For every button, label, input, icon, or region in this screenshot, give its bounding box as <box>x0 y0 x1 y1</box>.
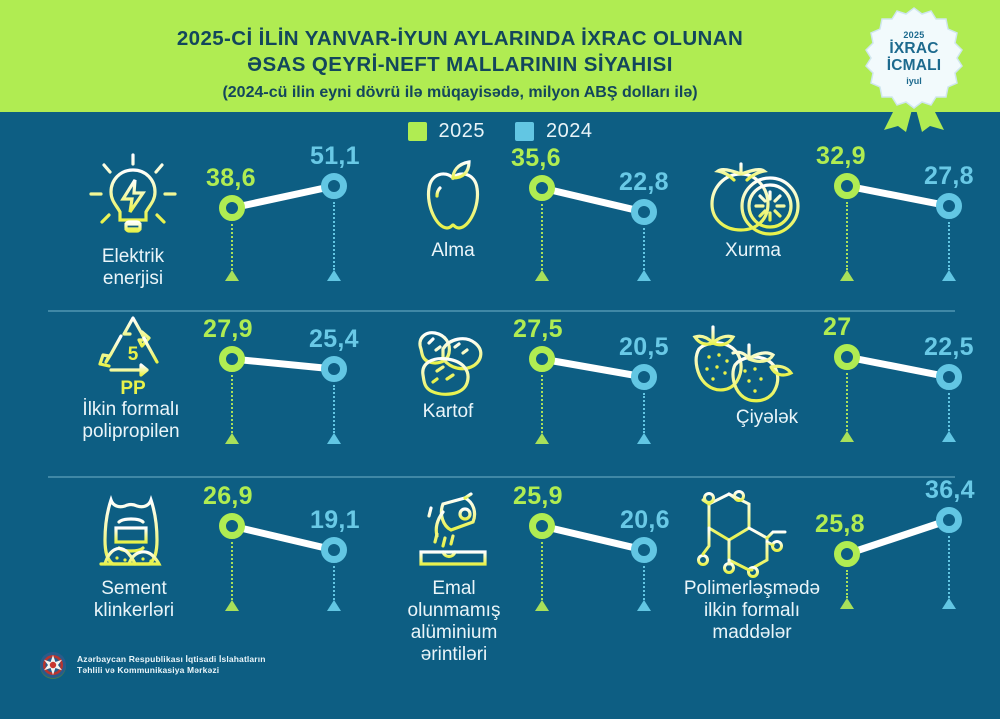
dropline-2025 <box>541 204 543 270</box>
item-emal-olunmamis-aluminium[interactable]: Emalolunmamışalüminiumərintiləri 25,9 20… <box>368 478 668 678</box>
badge-shape-icon <box>862 6 966 132</box>
arrow-2024 <box>637 433 651 444</box>
item-sement-klinkerleri[interactable]: Sementklinkerləri 26,9 19,1 <box>48 478 368 678</box>
item-chart: 32,9 27,8 <box>813 146 983 310</box>
marker-2025 <box>219 195 245 221</box>
item-ciyelek[interactable]: Çiyələk 27 22,5 <box>668 311 968 477</box>
footer-text-group: Azərbaycan Respublikası İqtisadi İslahat… <box>77 654 266 676</box>
item-chart: 38,6 51,1 <box>198 146 368 310</box>
value-2025: 25,9 <box>513 482 563 511</box>
molecule-icon <box>662 482 802 582</box>
arrow-2025 <box>225 433 239 444</box>
item-chart: 25,8 36,4 <box>813 478 983 678</box>
value-2025: 26,9 <box>203 482 253 511</box>
marker-2024 <box>321 173 347 199</box>
dropline-2024 <box>333 566 335 600</box>
arrow-2025 <box>840 598 854 609</box>
item-chart: 26,9 19,1 <box>198 478 368 678</box>
title-line-1: 2025-Cİ İLİN YANVAR-İYUN AYLARINDA İXRAC… <box>70 26 850 52</box>
arrow-2024 <box>637 270 651 281</box>
footer-line-2: Təhlili və Kommunikasiya Mərkəzi <box>77 665 266 676</box>
item-alma[interactable]: Alma 35,6 22,8 <box>368 146 668 310</box>
value-2024: 19,1 <box>310 506 360 535</box>
item-elektrik-enerjisi[interactable]: Elektrikenerjisi 38,6 51,1 <box>48 146 368 310</box>
value-2024: 25,4 <box>309 325 359 354</box>
arrow-2024 <box>942 270 956 281</box>
potato-icon <box>378 313 528 413</box>
marker-2024 <box>631 364 657 390</box>
arrow-2024 <box>942 598 956 609</box>
grid-row-3: Sementklinkerləri 26,9 19,1 <box>0 478 1000 678</box>
item-label: Xurma <box>678 240 828 262</box>
apple-icon <box>378 148 528 248</box>
legend-label-2025: 2025 <box>439 120 486 143</box>
arrow-2025 <box>535 270 549 281</box>
dropline-2024 <box>333 202 335 270</box>
azerbaijan-emblem-icon <box>38 650 68 680</box>
marker-2024 <box>936 364 962 390</box>
value-2024: 27,8 <box>924 162 974 191</box>
arrow-2025 <box>535 600 549 611</box>
value-2025: 27,9 <box>203 315 253 344</box>
value-2025: 27 <box>823 313 851 342</box>
arrow-2025 <box>225 270 239 281</box>
cement-bag-icon <box>58 486 208 586</box>
header-subtitle: (2024-cü ilin eyni dövrü ilə müqayisədə,… <box>70 81 850 105</box>
legend-label-2024: 2024 <box>546 120 593 143</box>
header-titles: 2025-Cİ İLİN YANVAR-İYUN AYLARINDA İXRAC… <box>70 26 850 105</box>
dropline-2024 <box>333 385 335 433</box>
dropline-2025 <box>541 542 543 600</box>
svg-text:5: 5 <box>128 344 139 365</box>
dropline-2025 <box>541 375 543 433</box>
marker-2025 <box>219 513 245 539</box>
marker-2024 <box>936 507 962 533</box>
arrow-2025 <box>225 600 239 611</box>
value-2024: 20,5 <box>619 333 669 362</box>
value-2024: 51,1 <box>310 142 360 171</box>
item-label: Sementklinkerləri <box>54 578 214 622</box>
marker-2025 <box>529 513 555 539</box>
ixrac-icmali-badge: 2025 İXRAC İCMALI iyul <box>862 6 966 132</box>
marker-2025 <box>834 344 860 370</box>
dropline-2024 <box>948 393 950 431</box>
marker-2025 <box>834 173 860 199</box>
marker-2025 <box>529 346 555 372</box>
value-2025: 38,6 <box>206 164 256 193</box>
dropline-2025 <box>846 202 848 270</box>
persimmon-icon <box>678 144 828 244</box>
item-ilkin-formali-polipropilen[interactable]: 5 PP İlkin formalıpolipropilen 27,9 25,4 <box>48 311 368 477</box>
arrow-2025 <box>840 431 854 442</box>
item-label: Elektrikenerjisi <box>63 246 203 290</box>
dropline-2024 <box>948 536 950 598</box>
marker-2025 <box>834 541 860 567</box>
marker-2025 <box>529 175 555 201</box>
value-2025: 27,5 <box>513 315 563 344</box>
value-2024: 36,4 <box>925 476 975 505</box>
dropline-2025 <box>846 570 848 598</box>
value-2025: 35,6 <box>511 144 561 173</box>
lightbulb-icon <box>58 148 208 248</box>
marker-2024 <box>321 537 347 563</box>
item-kartof[interactable]: Kartof 27,5 20,5 <box>368 311 668 477</box>
item-chart: 35,6 22,8 <box>508 146 678 310</box>
value-2024: 22,5 <box>924 333 974 362</box>
grid-row-1: Elektrikenerjisi 38,6 51,1 <box>0 146 1000 310</box>
items-grid: Elektrikenerjisi 38,6 51,1 <box>0 146 1000 681</box>
svg-text:PP: PP <box>120 378 146 399</box>
title-line-2: ƏSAS QEYRİ-NEFT MALLARININ SİYAHISI <box>70 52 850 78</box>
arrow-2024 <box>327 600 341 611</box>
footer-line-1: Azərbaycan Respublikası İqtisadi İslahat… <box>77 654 266 665</box>
legend-swatch-green <box>408 122 427 141</box>
dropline-2024 <box>643 393 645 433</box>
arrow-2024 <box>327 270 341 281</box>
dropline-2024 <box>643 566 645 600</box>
dropline-2025 <box>231 224 233 270</box>
arrow-2025 <box>840 270 854 281</box>
grid-row-2: 5 PP İlkin formalıpolipropilen 27,9 25,4 <box>0 311 1000 477</box>
arrow-2024 <box>637 600 651 611</box>
item-polimerlesmede-ilkin-formali-maddeler[interactable]: Polimerləşmədəilkin formalımaddələr 25,8… <box>668 478 968 678</box>
value-2025: 32,9 <box>816 142 866 171</box>
dropline-2025 <box>231 542 233 600</box>
strawberry-icon <box>678 311 808 411</box>
legend-item-2025: 2025 <box>408 120 486 143</box>
marker-2025 <box>219 346 245 372</box>
item-chart: 27 22,5 <box>813 311 983 477</box>
dropline-2024 <box>643 228 645 270</box>
marker-2024 <box>321 356 347 382</box>
item-label: Alma <box>378 240 528 262</box>
marker-2024 <box>631 199 657 225</box>
header-banner: 2025-Cİ İLİN YANVAR-İYUN AYLARINDA İXRAC… <box>0 0 1000 112</box>
footer: Azərbaycan Respublikası İqtisadi İslahat… <box>38 650 266 680</box>
dropline-2025 <box>231 375 233 433</box>
item-label: Kartof <box>373 401 523 423</box>
legend-item-2024: 2024 <box>515 120 593 143</box>
arrow-2025 <box>535 433 549 444</box>
arrow-2024 <box>942 431 956 442</box>
legend-swatch-blue <box>515 122 534 141</box>
item-chart: 27,5 20,5 <box>508 311 678 477</box>
arrow-2024 <box>327 433 341 444</box>
dropline-2025 <box>846 373 848 431</box>
trend-line <box>813 478 983 678</box>
marker-2024 <box>936 193 962 219</box>
value-2025: 25,8 <box>815 510 865 539</box>
recycle-pp-icon: 5 PP <box>58 313 208 399</box>
item-chart: 27,9 25,4 <box>198 311 368 477</box>
dropline-2024 <box>948 222 950 270</box>
item-xurma[interactable]: Xurma 32,9 27,8 <box>668 146 968 310</box>
marker-2024 <box>631 537 657 563</box>
molten-metal-icon <box>378 486 528 586</box>
value-2024: 22,8 <box>619 168 669 197</box>
